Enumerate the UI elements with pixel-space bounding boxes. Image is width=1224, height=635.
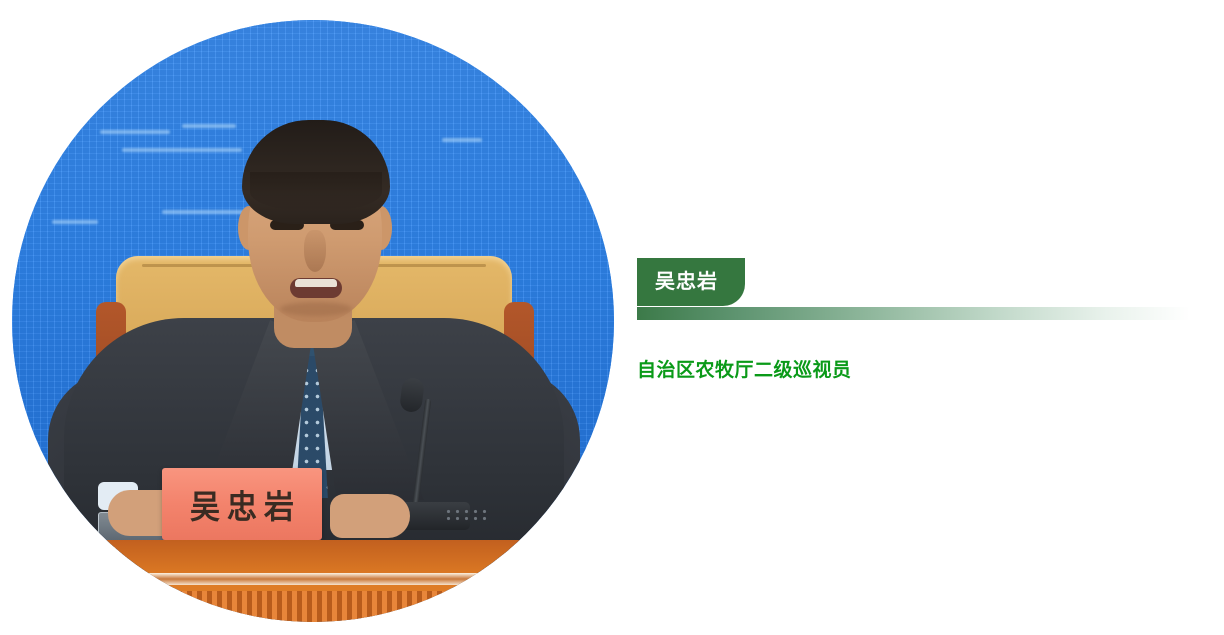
- speaker-job-title: 自治区农牧厅二级巡视员: [637, 355, 852, 382]
- portrait-photo: 吴忠岩: [12, 20, 614, 622]
- microphone-vents: [444, 508, 488, 522]
- backdrop-streak: [122, 148, 242, 152]
- backdrop-streak: [162, 210, 252, 214]
- backdrop-streak: [100, 130, 170, 134]
- nose: [304, 230, 326, 272]
- backdrop-streak: [52, 220, 98, 224]
- chin-shadow: [280, 302, 352, 316]
- accent-gradient-bar: [637, 307, 1190, 320]
- podium-desk-fluting: [12, 591, 614, 622]
- desk-nameplate: 吴忠岩: [162, 468, 322, 540]
- speaker-portrait: 吴忠岩: [12, 20, 614, 622]
- speaker-info-panel: 吴忠岩 自治区农牧厅二级巡视员: [637, 0, 1197, 635]
- podium-desk-trim: [12, 573, 614, 585]
- speaker-name-label: 吴忠岩: [655, 272, 718, 292]
- teeth: [295, 279, 337, 287]
- speaker-name-badge: 吴忠岩: [637, 258, 745, 306]
- backdrop-streak: [442, 138, 482, 142]
- desk-nameplate-text: 吴忠岩: [183, 480, 301, 528]
- speaker-profile-page: 吴忠岩 吴忠岩 自治区农牧厅二级巡视员: [0, 0, 1224, 635]
- hand-right: [330, 494, 410, 538]
- backdrop-streak: [182, 124, 236, 128]
